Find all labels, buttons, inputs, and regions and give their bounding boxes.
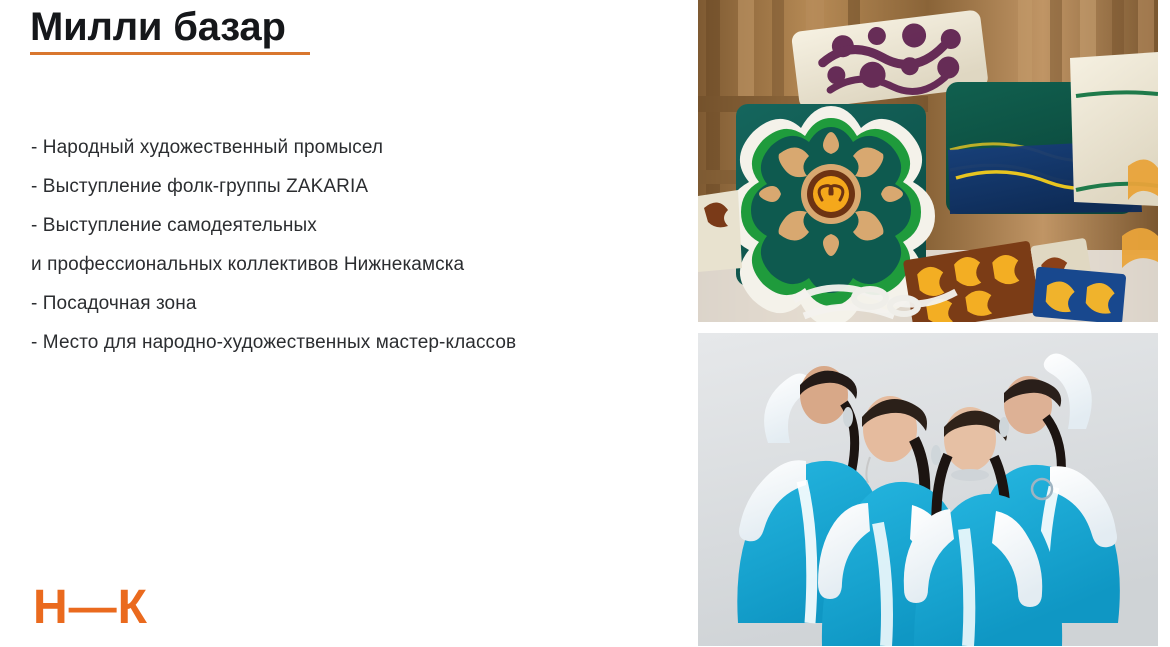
page-title: Милли базар	[30, 4, 450, 50]
title-block: Милли базар	[30, 4, 450, 55]
pillows-photo	[698, 0, 1158, 322]
list-item: - Народный художественный промысел	[31, 128, 671, 167]
list-item: - Место для народно-художественных масте…	[31, 323, 671, 362]
folk-group-photo-artwork	[698, 333, 1158, 646]
nk-logo: Н—К	[33, 584, 148, 632]
slide-canvas: Милли базар - Народный художественный пр…	[0, 0, 1170, 647]
list-item: и профессиональных коллективов Нижнекамс…	[31, 245, 671, 284]
pillows-photo-artwork	[698, 0, 1158, 322]
folk-group-photo	[698, 333, 1158, 646]
bullet-list: - Народный художественный промысел - Выс…	[31, 128, 671, 362]
list-item: - Выступление фолк-группы ZAKARIA	[31, 167, 671, 206]
list-item: - Выступление самодеятельных	[31, 206, 671, 245]
title-underline-rule	[30, 52, 310, 55]
list-item: - Посадочная зона	[31, 284, 671, 323]
